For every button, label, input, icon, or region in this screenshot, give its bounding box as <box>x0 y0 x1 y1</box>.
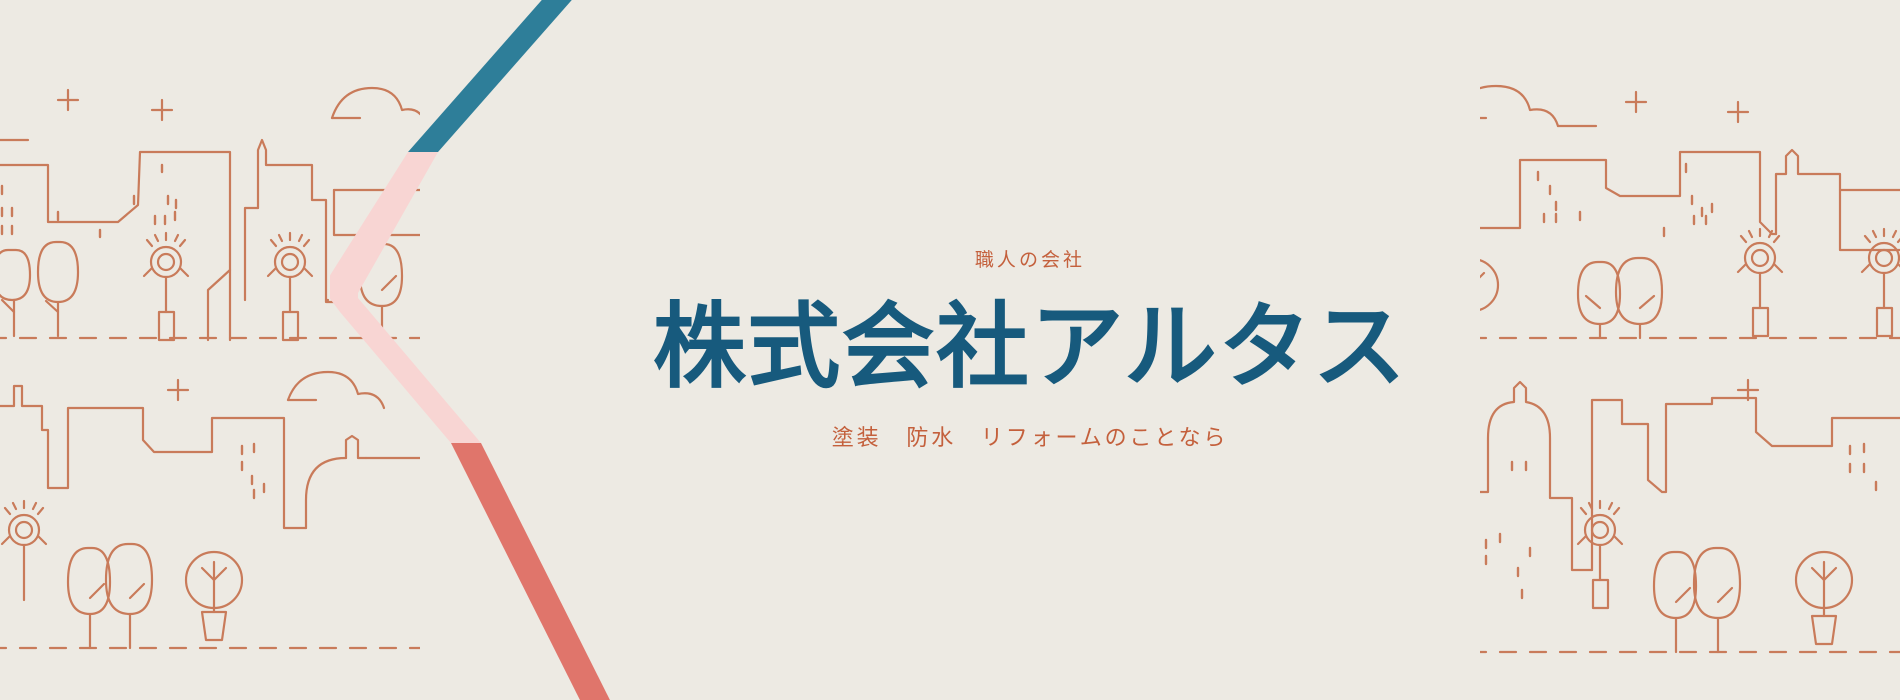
company-name-title: 株式会社アルタス <box>653 296 1407 398</box>
hero-subtitle: 塗装 防水 リフォームのことなら <box>832 427 1228 449</box>
hero-tagline: 職人の会社 <box>975 251 1085 270</box>
tree <box>1616 258 1662 338</box>
tree <box>38 242 78 336</box>
sparkle-icon <box>1738 380 1758 400</box>
street-lamp <box>144 233 188 340</box>
street-lamp <box>1738 229 1782 336</box>
tree <box>106 544 152 648</box>
street-lamp <box>268 233 312 340</box>
sparkle-icon <box>92 308 188 400</box>
tree <box>68 548 110 648</box>
street-lamp <box>2 501 46 600</box>
sparkle-icon <box>1626 90 1868 122</box>
potted-plant <box>186 552 242 640</box>
potted-plant <box>1796 552 1852 644</box>
tree <box>1694 548 1740 652</box>
tree <box>1654 552 1696 652</box>
sparkle-icon <box>58 90 172 120</box>
chevron-middle-segment <box>330 152 481 443</box>
hero-text-block: 職人の会社 株式会社アルタス 塗装 防水 リフォームのことなら <box>470 0 1590 700</box>
tree <box>0 250 30 336</box>
hero-banner: 職人の会社 株式会社アルタス 塗装 防水 リフォームのことなら <box>0 0 1900 700</box>
street-lamp <box>1862 229 1900 336</box>
